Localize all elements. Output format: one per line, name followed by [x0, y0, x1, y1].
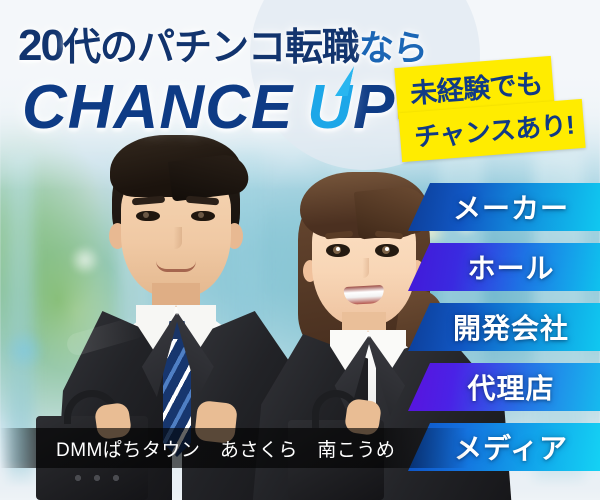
category-label: メーカー	[439, 187, 569, 227]
credit-strip: DMMぱちタウン あさくら 南こうめ	[0, 428, 600, 468]
headline-number: 20	[18, 21, 63, 70]
logo-letter-p: P	[353, 73, 395, 142]
headline-text: 20代のパチンコ転職なら	[18, 16, 427, 71]
chance-up-logo: CHANCEUP	[22, 72, 395, 143]
highlight-badge: 未経験でも チャンスあり!	[396, 58, 596, 156]
category-button-maker[interactable]: メーカー	[408, 183, 600, 231]
category-button-development-company[interactable]: 開発会社	[408, 303, 600, 351]
advertisement-banner[interactable]: 20代のパチンコ転職なら CHANCEUP 未経験でも チャンスあり! メーカー…	[0, 0, 600, 500]
category-button-agency[interactable]: 代理店	[408, 363, 600, 411]
logo-word-up: UP	[307, 73, 395, 142]
category-label: 代理店	[453, 367, 554, 407]
headline-body: 代のパチンコ転職	[63, 27, 359, 69]
category-label: 開発会社	[439, 307, 569, 347]
logo-word-chance: CHANCE	[22, 73, 293, 142]
category-button-hall[interactable]: ホール	[408, 243, 600, 291]
credit-text: DMMぱちタウン あさくら 南こうめ	[0, 435, 395, 462]
category-label: ホール	[453, 247, 554, 287]
logo-letter-u: U	[307, 72, 353, 143]
